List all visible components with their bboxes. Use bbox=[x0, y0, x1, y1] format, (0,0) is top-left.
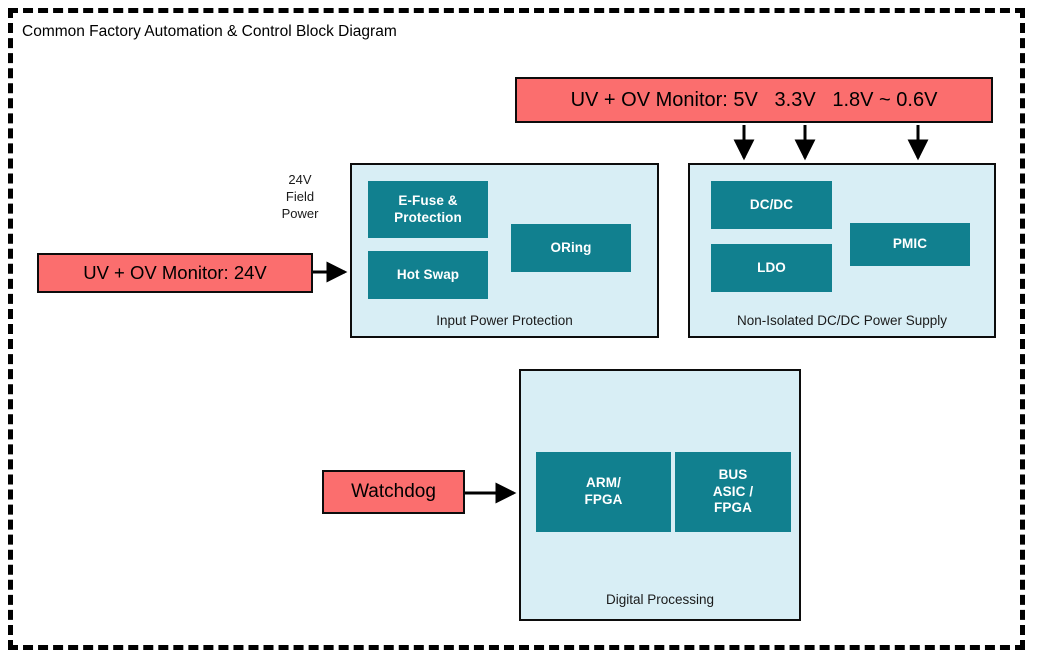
uv-ov-monitor-24v-box[interactable]: UV + OV Monitor: 24V bbox=[37, 253, 313, 293]
uv-ov-monitor-rails-box[interactable]: UV + OV Monitor: 5V 3.3V 1.8V ~ 0.6V bbox=[515, 77, 993, 123]
panel-digital-processing: ARM/ FPGA BUS ASIC / FPGA Digital Proces… bbox=[519, 369, 801, 621]
field-power-label: 24V Field Power bbox=[268, 172, 332, 223]
block-pmic[interactable]: PMIC bbox=[850, 223, 970, 266]
panel-caption-non-isolated-dcdc-power-supply: Non-Isolated DC/DC Power Supply bbox=[690, 313, 994, 328]
block-ldo[interactable]: LDO bbox=[711, 244, 832, 292]
block-dc-dc[interactable]: DC/DC bbox=[711, 181, 832, 229]
block-oring[interactable]: ORing bbox=[511, 224, 631, 272]
watchdog-box[interactable]: Watchdog bbox=[322, 470, 465, 514]
block-hot-swap[interactable]: Hot Swap bbox=[368, 251, 488, 299]
block-bus-asic-fpga[interactable]: BUS ASIC / FPGA bbox=[675, 452, 791, 532]
panel-input-power-protection: E-Fuse & Protection Hot Swap ORing Input… bbox=[350, 163, 659, 338]
page-title: Common Factory Automation & Control Bloc… bbox=[22, 23, 397, 41]
block-e-fuse-protection[interactable]: E-Fuse & Protection bbox=[368, 181, 488, 238]
block-diagram-canvas: Common Factory Automation & Control Bloc… bbox=[0, 0, 1037, 662]
field-power-text: 24V Field Power bbox=[282, 172, 319, 221]
block-arm-fpga[interactable]: ARM/ FPGA bbox=[536, 452, 671, 532]
panel-caption-digital-processing: Digital Processing bbox=[521, 592, 799, 607]
panel-caption-input-power-protection: Input Power Protection bbox=[352, 313, 657, 328]
panel-non-isolated-dcdc-power-supply: DC/DC LDO PMIC Non-Isolated DC/DC Power … bbox=[688, 163, 996, 338]
